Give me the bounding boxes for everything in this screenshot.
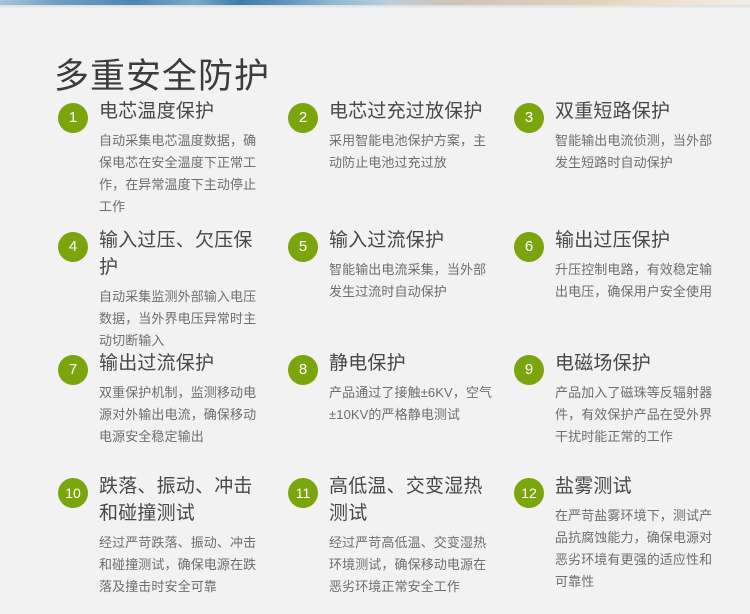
feature-description: 自动采集电芯温度数据，确保电芯在安全温度下正常工作，在异常温度下主动停止工作 — [99, 130, 264, 218]
feature-heading: 电芯温度保护 — [99, 98, 264, 125]
feature-number-badge: 10 — [58, 478, 88, 508]
feature-heading: 输入过压、欠压保护 — [99, 227, 264, 281]
feature-heading: 静电保护 — [329, 350, 494, 377]
feature-body: 盐雾测试 在严苛盐雾环境下，测试产品抗腐蚀能力，确保电源对恶劣环境有更强的适应性… — [555, 473, 720, 593]
feature-item: 4 输入过压、欠压保护 自动采集监测外部输入电压数据，当外界电压异常时主动切断输… — [58, 227, 264, 352]
feature-body: 电芯温度保护 自动采集电芯温度数据，确保电芯在安全温度下正常工作，在异常温度下主… — [99, 98, 264, 218]
feature-number-badge: 1 — [58, 103, 88, 133]
feature-body: 输出过流保护 双重保护机制，监测移动电源对外输出电流，确保移动电源安全稳定输出 — [99, 350, 264, 448]
feature-description: 产品通过了接触±6KV，空气±10KV的严格静电测试 — [329, 382, 494, 426]
feature-number-badge: 12 — [514, 478, 544, 508]
feature-row: 1 电芯温度保护 自动采集电芯温度数据，确保电芯在安全温度下正常工作，在异常温度… — [0, 98, 750, 227]
feature-heading: 输出过压保护 — [555, 227, 720, 254]
feature-description: 经过严苛高低温、交变湿热环境测试，确保移动电源在恶劣环境正常安全工作 — [329, 532, 494, 598]
feature-number-badge: 11 — [288, 478, 318, 508]
feature-item: 1 电芯温度保护 自动采集电芯温度数据，确保电芯在安全温度下正常工作，在异常温度… — [58, 98, 264, 218]
feature-heading: 输出过流保护 — [99, 350, 264, 377]
feature-item: 10 跌落、振动、冲击和碰撞测试 经过严苛跌落、振动、冲击和碰撞测试，确保电源在… — [58, 473, 264, 598]
feature-heading: 盐雾测试 — [555, 473, 720, 500]
feature-description: 产品加入了磁珠等反辐射器件，有效保护产品在受外界干扰时能正常的工作 — [555, 382, 720, 448]
feature-item: 12 盐雾测试 在严苛盐雾环境下，测试产品抗腐蚀能力，确保电源对恶劣环境有更强的… — [514, 473, 720, 593]
feature-item: 6 输出过压保护 升压控制电路，有效稳定输出电压，确保用户安全使用 — [514, 227, 720, 303]
feature-row: 7 输出过流保护 双重保护机制，监测移动电源对外输出电流，确保移动电源安全稳定输… — [0, 350, 750, 473]
feature-description: 自动采集监测外部输入电压数据，当外界电压异常时主动切断输入 — [99, 286, 264, 352]
feature-row: 10 跌落、振动、冲击和碰撞测试 经过严苛跌落、振动、冲击和碰撞测试，确保电源在… — [0, 473, 750, 613]
feature-heading: 电磁场保护 — [555, 350, 720, 377]
feature-body: 静电保护 产品通过了接触±6KV，空气±10KV的严格静电测试 — [329, 350, 494, 426]
banner-fade-edge — [0, 5, 750, 9]
feature-number-badge: 5 — [288, 232, 318, 262]
feature-item: 3 双重短路保护 智能输出电流侦测，当外部发生短路时自动保护 — [514, 98, 720, 174]
feature-number-badge: 7 — [58, 355, 88, 385]
feature-item: 7 输出过流保护 双重保护机制，监测移动电源对外输出电流，确保移动电源安全稳定输… — [58, 350, 264, 448]
feature-body: 跌落、振动、冲击和碰撞测试 经过严苛跌落、振动、冲击和碰撞测试，确保电源在跌落及… — [99, 473, 264, 598]
feature-number-badge: 3 — [514, 103, 544, 133]
feature-description: 升压控制电路，有效稳定输出电压，确保用户安全使用 — [555, 259, 720, 303]
feature-heading: 双重短路保护 — [555, 98, 720, 125]
feature-number-badge: 8 — [288, 355, 318, 385]
feature-description: 在严苛盐雾环境下，测试产品抗腐蚀能力，确保电源对恶劣环境有更强的适应性和可靠性 — [555, 505, 720, 593]
feature-number-badge: 9 — [514, 355, 544, 385]
feature-body: 高低温、交变湿热测试 经过严苛高低温、交变湿热环境测试，确保移动电源在恶劣环境正… — [329, 473, 494, 598]
feature-description: 智能输出电流侦测，当外部发生短路时自动保护 — [555, 130, 720, 174]
feature-item: 11 高低温、交变湿热测试 经过严苛高低温、交变湿热环境测试，确保移动电源在恶劣… — [288, 473, 494, 598]
feature-item: 5 输入过流保护 智能输出电流采集，当外部发生过流时自动保护 — [288, 227, 494, 303]
feature-heading: 电芯过充过放保护 — [329, 98, 494, 125]
feature-description: 双重保护机制，监测移动电源对外输出电流，确保移动电源安全稳定输出 — [99, 382, 264, 448]
feature-body: 电磁场保护 产品加入了磁珠等反辐射器件，有效保护产品在受外界干扰时能正常的工作 — [555, 350, 720, 448]
feature-description: 经过严苛跌落、振动、冲击和碰撞测试，确保电源在跌落及撞击时安全可靠 — [99, 532, 264, 598]
feature-description: 智能输出电流采集，当外部发生过流时自动保护 — [329, 259, 494, 303]
feature-item: 8 静电保护 产品通过了接触±6KV，空气±10KV的严格静电测试 — [288, 350, 494, 426]
features-grid: 1 电芯温度保护 自动采集电芯温度数据，确保电芯在安全温度下正常工作，在异常温度… — [0, 98, 750, 613]
feature-item: 9 电磁场保护 产品加入了磁珠等反辐射器件，有效保护产品在受外界干扰时能正常的工… — [514, 350, 720, 448]
feature-number-badge: 4 — [58, 232, 88, 262]
feature-body: 输入过压、欠压保护 自动采集监测外部输入电压数据，当外界电压异常时主动切断输入 — [99, 227, 264, 352]
feature-heading: 输入过流保护 — [329, 227, 494, 254]
feature-description: 采用智能电池保护方案，主动防止电池过充过放 — [329, 130, 494, 174]
feature-body: 电芯过充过放保护 采用智能电池保护方案，主动防止电池过充过放 — [329, 98, 494, 174]
feature-number-badge: 6 — [514, 232, 544, 262]
feature-body: 输入过流保护 智能输出电流采集，当外部发生过流时自动保护 — [329, 227, 494, 303]
feature-body: 双重短路保护 智能输出电流侦测，当外部发生短路时自动保护 — [555, 98, 720, 174]
feature-row: 4 输入过压、欠压保护 自动采集监测外部输入电压数据，当外界电压异常时主动切断输… — [0, 227, 750, 350]
feature-heading: 跌落、振动、冲击和碰撞测试 — [99, 473, 264, 527]
feature-number-badge: 2 — [288, 103, 318, 133]
feature-heading: 高低温、交变湿热测试 — [329, 473, 494, 527]
page-title: 多重安全防护 — [54, 55, 270, 99]
feature-body: 输出过压保护 升压控制电路，有效稳定输出电压，确保用户安全使用 — [555, 227, 720, 303]
feature-item: 2 电芯过充过放保护 采用智能电池保护方案，主动防止电池过充过放 — [288, 98, 494, 174]
